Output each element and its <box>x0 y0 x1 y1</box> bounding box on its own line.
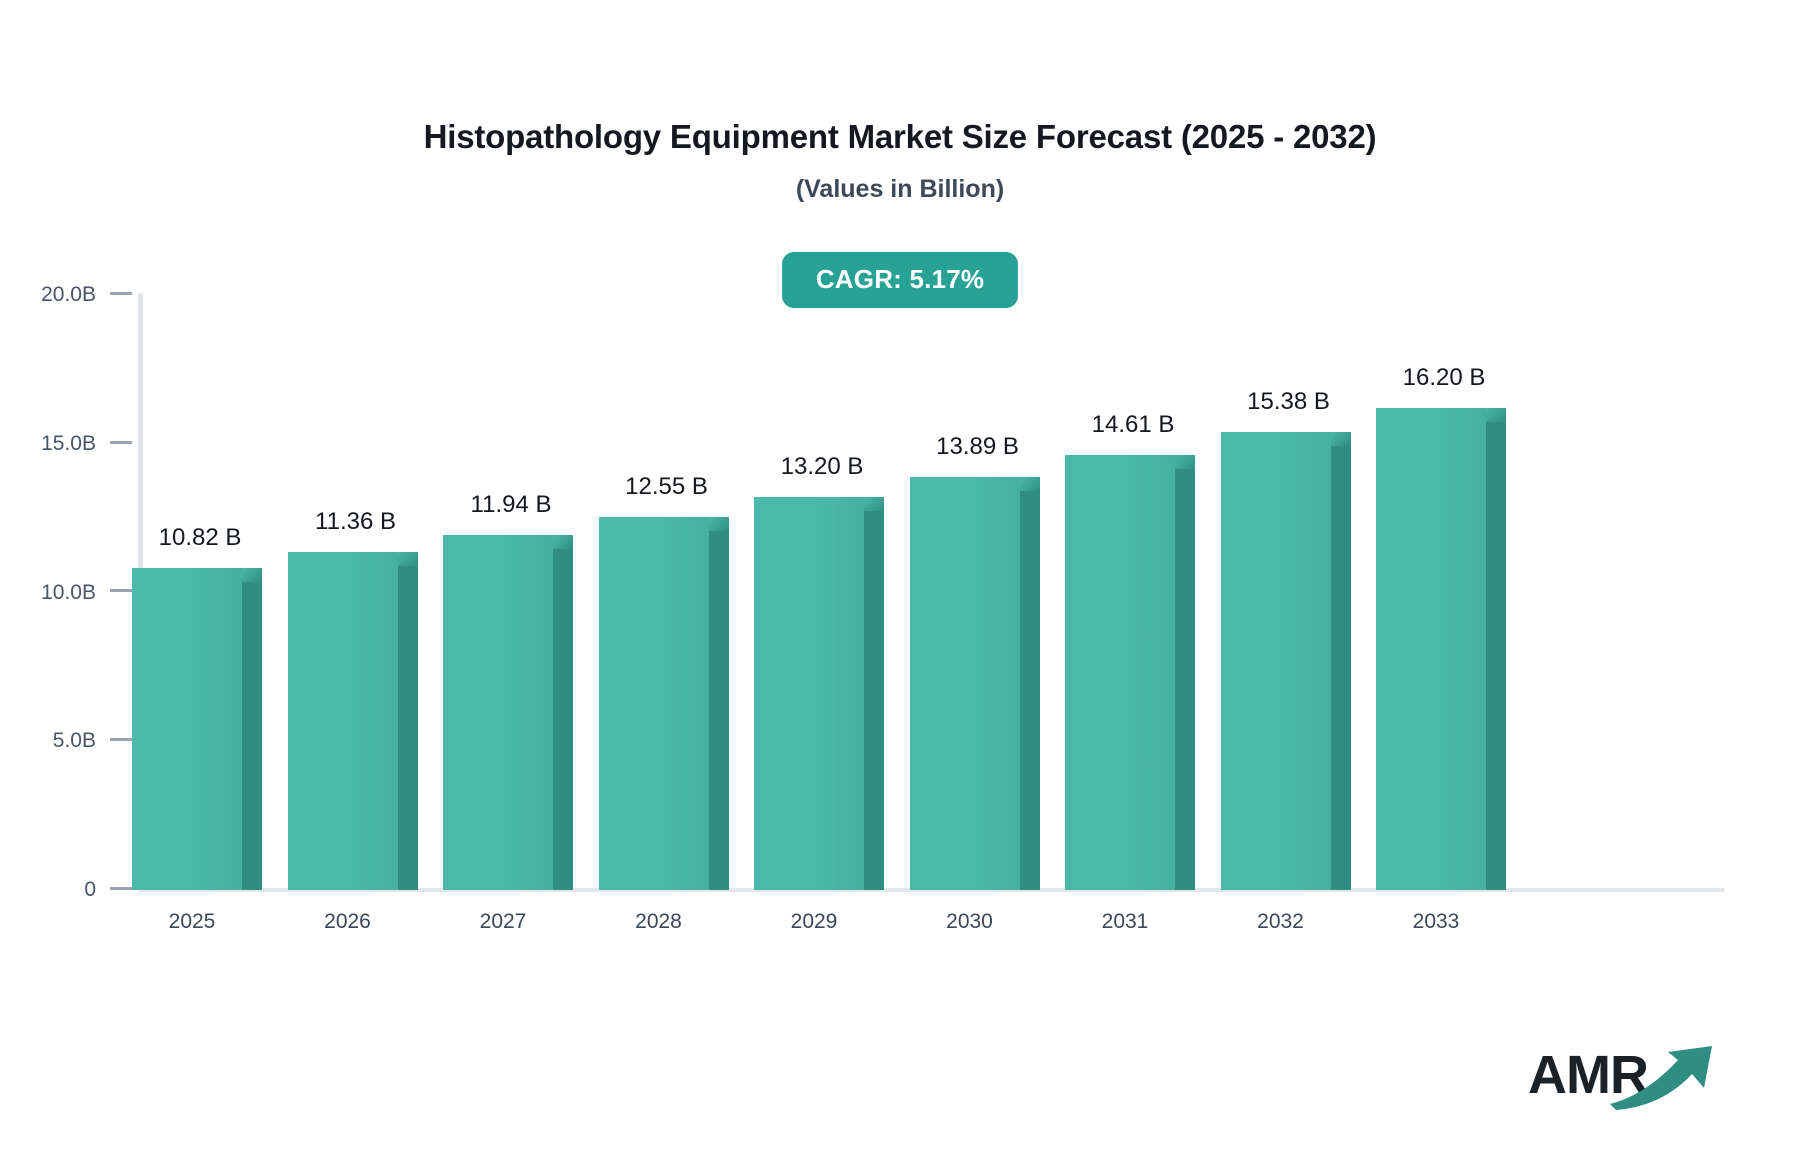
y-axis-tick-label: 0 <box>84 878 96 901</box>
y-axis-tick-mark <box>110 887 132 890</box>
bar-front-face <box>443 535 553 890</box>
x-axis-label: 2032 <box>1257 910 1304 934</box>
bar-side-face <box>553 547 573 890</box>
bar-front-face <box>132 568 242 890</box>
bar-front-face <box>599 517 709 890</box>
y-axis-tick-mark <box>110 589 132 592</box>
bar-top-face <box>1020 477 1040 491</box>
bar-value-label: 14.61 B <box>1092 411 1175 439</box>
y-axis-tick-mark <box>110 292 132 295</box>
x-axis-label: 2033 <box>1413 910 1460 934</box>
x-axis-label: 2026 <box>324 910 371 934</box>
bar[interactable] <box>288 552 418 890</box>
amr-logo: AMR <box>1528 1042 1728 1128</box>
bar[interactable] <box>132 568 262 890</box>
bar[interactable] <box>1221 432 1351 890</box>
bar-side-face <box>709 529 729 890</box>
bar-front-face <box>910 477 1020 890</box>
bar[interactable] <box>599 517 729 890</box>
y-axis-tick-label: 20.0B <box>41 283 96 306</box>
bar-front-face <box>1221 432 1331 890</box>
bar-side-face <box>1486 420 1506 890</box>
y-axis-tick-mark <box>110 738 132 741</box>
bar-top-face <box>1175 455 1195 469</box>
bar-value-label: 16.20 B <box>1403 364 1486 392</box>
y-axis-tick: 5.0B <box>0 729 132 753</box>
bar-value-label: 11.94 B <box>471 491 552 519</box>
y-axis-tick-label: 15.0B <box>41 432 96 455</box>
bar-side-face <box>242 580 262 890</box>
bar-front-face <box>1065 455 1175 890</box>
bar-side-face <box>1175 467 1195 890</box>
bar-top-face <box>398 552 418 566</box>
growth-arrow-icon <box>1608 1042 1728 1110</box>
bar-value-label: 15.38 B <box>1247 388 1330 416</box>
bar-top-face <box>709 517 729 531</box>
bar-front-face <box>754 497 864 890</box>
bar-top-face <box>1486 408 1506 422</box>
bar[interactable] <box>910 477 1040 890</box>
bar[interactable] <box>443 535 573 890</box>
x-axis-label: 2027 <box>480 910 527 934</box>
bar-front-face <box>1376 408 1486 890</box>
bar-value-label: 13.20 B <box>781 453 864 481</box>
bar-side-face <box>1331 444 1351 890</box>
x-axis-label: 2029 <box>791 910 838 934</box>
bar-side-face <box>398 564 418 890</box>
bar-value-label: 12.55 B <box>625 473 708 501</box>
x-axis-label: 2028 <box>635 910 682 934</box>
y-axis-tick: 0 <box>0 878 132 902</box>
x-axis-label: 2030 <box>946 910 993 934</box>
bar-top-face <box>1331 432 1351 446</box>
bar-value-label: 11.36 B <box>315 508 396 536</box>
bar[interactable] <box>1376 408 1506 890</box>
bar[interactable] <box>754 497 884 890</box>
bar-side-face <box>864 509 884 890</box>
bar-top-face <box>553 535 573 549</box>
x-axis-label: 2031 <box>1102 910 1149 934</box>
bar-top-face <box>242 568 262 582</box>
y-axis-tick: 20.0B <box>0 283 132 307</box>
y-axis-tick: 10.0B <box>0 581 132 605</box>
bar-front-face <box>288 552 398 890</box>
bar-value-label: 10.82 B <box>159 524 242 552</box>
bar-side-face <box>1020 489 1040 890</box>
y-axis-tick-mark <box>110 441 132 444</box>
bar[interactable] <box>1065 455 1195 890</box>
y-axis-tick-label: 10.0B <box>41 581 96 604</box>
chart-page: Histopathology Equipment Market Size For… <box>0 0 1800 1156</box>
y-axis-tick: 15.0B <box>0 432 132 456</box>
y-axis-tick-label: 5.0B <box>53 729 96 752</box>
bar-top-face <box>864 497 884 511</box>
x-axis-label: 2025 <box>169 910 216 934</box>
bar-chart-plot: 20.0B15.0B10.0B5.0B0 10.82 B11.36 B11.94… <box>0 0 1800 1156</box>
bar-value-label: 13.89 B <box>936 433 1019 461</box>
